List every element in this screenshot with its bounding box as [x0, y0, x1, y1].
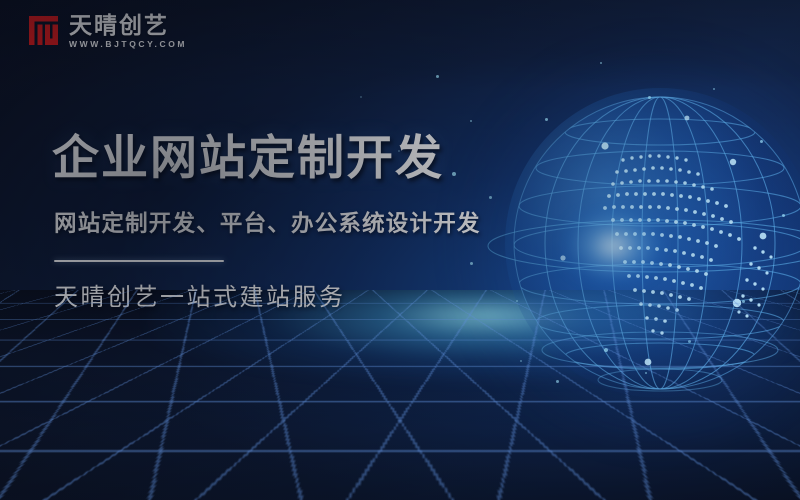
- banner-canvas: 天晴创艺 WWW.BJTQCY.COM 企业网站定制开发 网站定制开发、平台、办…: [0, 0, 800, 500]
- banner-tagline: 天晴创艺一站式建站服务: [54, 284, 572, 313]
- page-title: 企业网站定制开发: [52, 132, 572, 185]
- tqcy-bar-mark-icon: [27, 14, 60, 47]
- brand-logo[interactable]: 天晴创艺 WWW.BJTQCY.COM: [27, 13, 187, 49]
- banner-subheadline: 网站定制开发、平台、办公系统设计开发: [54, 210, 572, 237]
- brand-website: WWW.BJTQCY.COM: [69, 40, 187, 49]
- banner-copy: 企业网站定制开发 网站定制开发、平台、办公系统设计开发 天晴创艺一站式建站服务: [52, 132, 572, 312]
- divider: [54, 260, 224, 262]
- brand-name: 天晴创艺: [69, 13, 187, 37]
